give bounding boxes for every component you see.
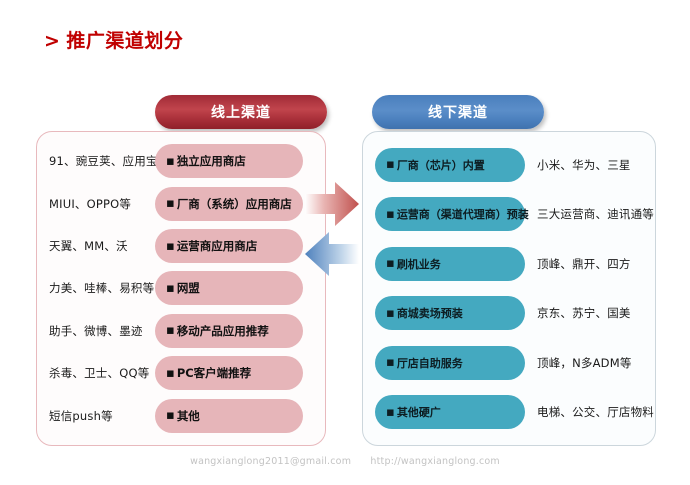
bullet-icon: ▪ [386, 208, 395, 221]
online-channel-pill[interactable]: ▪PC客户端推荐 [155, 356, 303, 390]
online-channel-pill-label: 网盟 [177, 280, 200, 296]
online-channel-pill[interactable]: ▪移动产品应用推荐 [155, 314, 303, 348]
offline-row: ▪厅店自助服务顶峰，N多ADM等 [363, 346, 655, 380]
online-channel-pill-label: 其他 [177, 408, 200, 424]
online-channel-pill-label: 运营商应用商店 [177, 238, 258, 254]
online-channel-pill[interactable]: ▪独立应用商店 [155, 144, 303, 178]
offline-channel-pill[interactable]: ▪刷机业务 [375, 247, 525, 281]
title-chevron: > [44, 30, 60, 52]
online-row: 力美、哇棒、易积等▪网盟 [37, 271, 325, 305]
arrow-online-to-offline-icon [305, 182, 359, 230]
footer: wangxianglong2011@gmail.com http://wangx… [0, 456, 690, 467]
arrow-offline-to-online-icon [305, 232, 359, 280]
offline-channel-pill-label: 商城卖场预装 [397, 305, 463, 321]
offline-channel-pill-label: 厂商（芯片）内置 [397, 157, 485, 173]
offline-row: ▪其他硬广电梯、公交、厅店物料 [363, 395, 655, 429]
offline-channel-header: 线下渠道 [372, 95, 544, 129]
online-channel-pill[interactable]: ▪其他 [155, 399, 303, 433]
offline-channel-pill[interactable]: ▪其他硬广 [375, 395, 525, 429]
offline-row: ▪厂商（芯片）内置小米、华为、三星 [363, 148, 655, 182]
offline-channel-pill[interactable]: ▪厅店自助服务 [375, 346, 525, 380]
bullet-icon: ▪ [166, 155, 175, 168]
bullet-icon: ▪ [386, 356, 395, 369]
online-row-examples: 力美、哇棒、易积等 [37, 280, 155, 296]
online-channel-header: 线上渠道 [155, 95, 327, 129]
bullet-icon: ▪ [166, 240, 175, 253]
online-row: 天翼、MM、沃▪运营商应用商店 [37, 229, 325, 263]
online-channel-panel: 91、豌豆荚、应用宝等▪独立应用商店MIUI、OPPO等▪厂商（系统）应用商店天… [36, 131, 326, 446]
online-channel-pill-label: 移动产品应用推荐 [177, 323, 269, 339]
offline-row-examples: 顶峰、鼎开、四方 [525, 256, 655, 272]
offline-channel-header-label: 线下渠道 [428, 102, 488, 122]
online-row-examples: 短信push等 [37, 408, 155, 424]
offline-row-examples: 京东、苏宁、国美 [525, 305, 655, 321]
offline-row-examples: 小米、华为、三星 [525, 157, 655, 173]
offline-channel-panel: ▪厂商（芯片）内置小米、华为、三星▪运营商（渠道代理商）预装三大运营商、迪讯通等… [362, 131, 656, 446]
online-channel-pill-label: 厂商（系统）应用商店 [177, 196, 292, 212]
page-title: >推广渠道划分 [44, 26, 183, 53]
online-row-examples: 助手、微博、墨迹 [37, 323, 155, 339]
bullet-icon: ▪ [166, 409, 175, 422]
offline-row-examples: 电梯、公交、厅店物料 [525, 404, 655, 420]
offline-channel-pill[interactable]: ▪厂商（芯片）内置 [375, 148, 525, 182]
offline-row-list: ▪厂商（芯片）内置小米、华为、三星▪运营商（渠道代理商）预装三大运营商、迪讯通等… [363, 132, 655, 445]
footer-url: http://wangxianglong.com [370, 456, 500, 467]
footer-email: wangxianglong2011@gmail.com [190, 456, 351, 467]
bullet-icon: ▪ [166, 324, 175, 337]
offline-row: ▪商城卖场预装京东、苏宁、国美 [363, 296, 655, 330]
bullet-icon: ▪ [386, 158, 395, 171]
offline-channel-pill-label: 厅店自助服务 [397, 355, 463, 371]
online-row-list: 91、豌豆荚、应用宝等▪独立应用商店MIUI、OPPO等▪厂商（系统）应用商店天… [37, 132, 325, 445]
online-channel-pill[interactable]: ▪厂商（系统）应用商店 [155, 187, 303, 221]
online-row: 短信push等▪其他 [37, 399, 325, 433]
online-row: 助手、微博、墨迹▪移动产品应用推荐 [37, 314, 325, 348]
bullet-icon: ▪ [166, 282, 175, 295]
online-row-examples: MIUI、OPPO等 [37, 196, 155, 212]
online-row: MIUI、OPPO等▪厂商（系统）应用商店 [37, 187, 325, 221]
online-channel-pill-label: PC客户端推荐 [177, 365, 251, 381]
bullet-icon: ▪ [166, 367, 175, 380]
online-row-examples: 杀毒、卫士、QQ等 [37, 365, 155, 381]
online-channel-header-label: 线上渠道 [211, 102, 271, 122]
online-row-examples: 天翼、MM、沃 [37, 238, 155, 254]
offline-channel-pill[interactable]: ▪运营商（渠道代理商）预装 [375, 197, 525, 231]
online-channel-pill[interactable]: ▪网盟 [155, 271, 303, 305]
online-row: 91、豌豆荚、应用宝等▪独立应用商店 [37, 144, 325, 178]
online-channel-pill[interactable]: ▪运营商应用商店 [155, 229, 303, 263]
bullet-icon: ▪ [386, 307, 395, 320]
offline-channel-pill[interactable]: ▪商城卖场预装 [375, 296, 525, 330]
bullet-icon: ▪ [386, 257, 395, 270]
offline-row-examples: 顶峰，N多ADM等 [525, 355, 655, 371]
title-text: 推广渠道划分 [66, 30, 183, 52]
offline-row: ▪运营商（渠道代理商）预装三大运营商、迪讯通等 [363, 197, 655, 231]
bullet-icon: ▪ [386, 406, 395, 419]
offline-row: ▪刷机业务顶峰、鼎开、四方 [363, 247, 655, 281]
offline-channel-pill-label: 刷机业务 [397, 256, 441, 272]
online-row-examples: 91、豌豆荚、应用宝等 [37, 153, 155, 169]
bullet-icon: ▪ [166, 197, 175, 210]
online-row: 杀毒、卫士、QQ等▪PC客户端推荐 [37, 356, 325, 390]
offline-channel-pill-label: 其他硬广 [397, 404, 441, 420]
offline-channel-pill-label: 运营商（渠道代理商）预装 [397, 206, 529, 222]
offline-row-examples: 三大运营商、迪讯通等 [525, 206, 655, 222]
online-channel-pill-label: 独立应用商店 [177, 153, 246, 169]
